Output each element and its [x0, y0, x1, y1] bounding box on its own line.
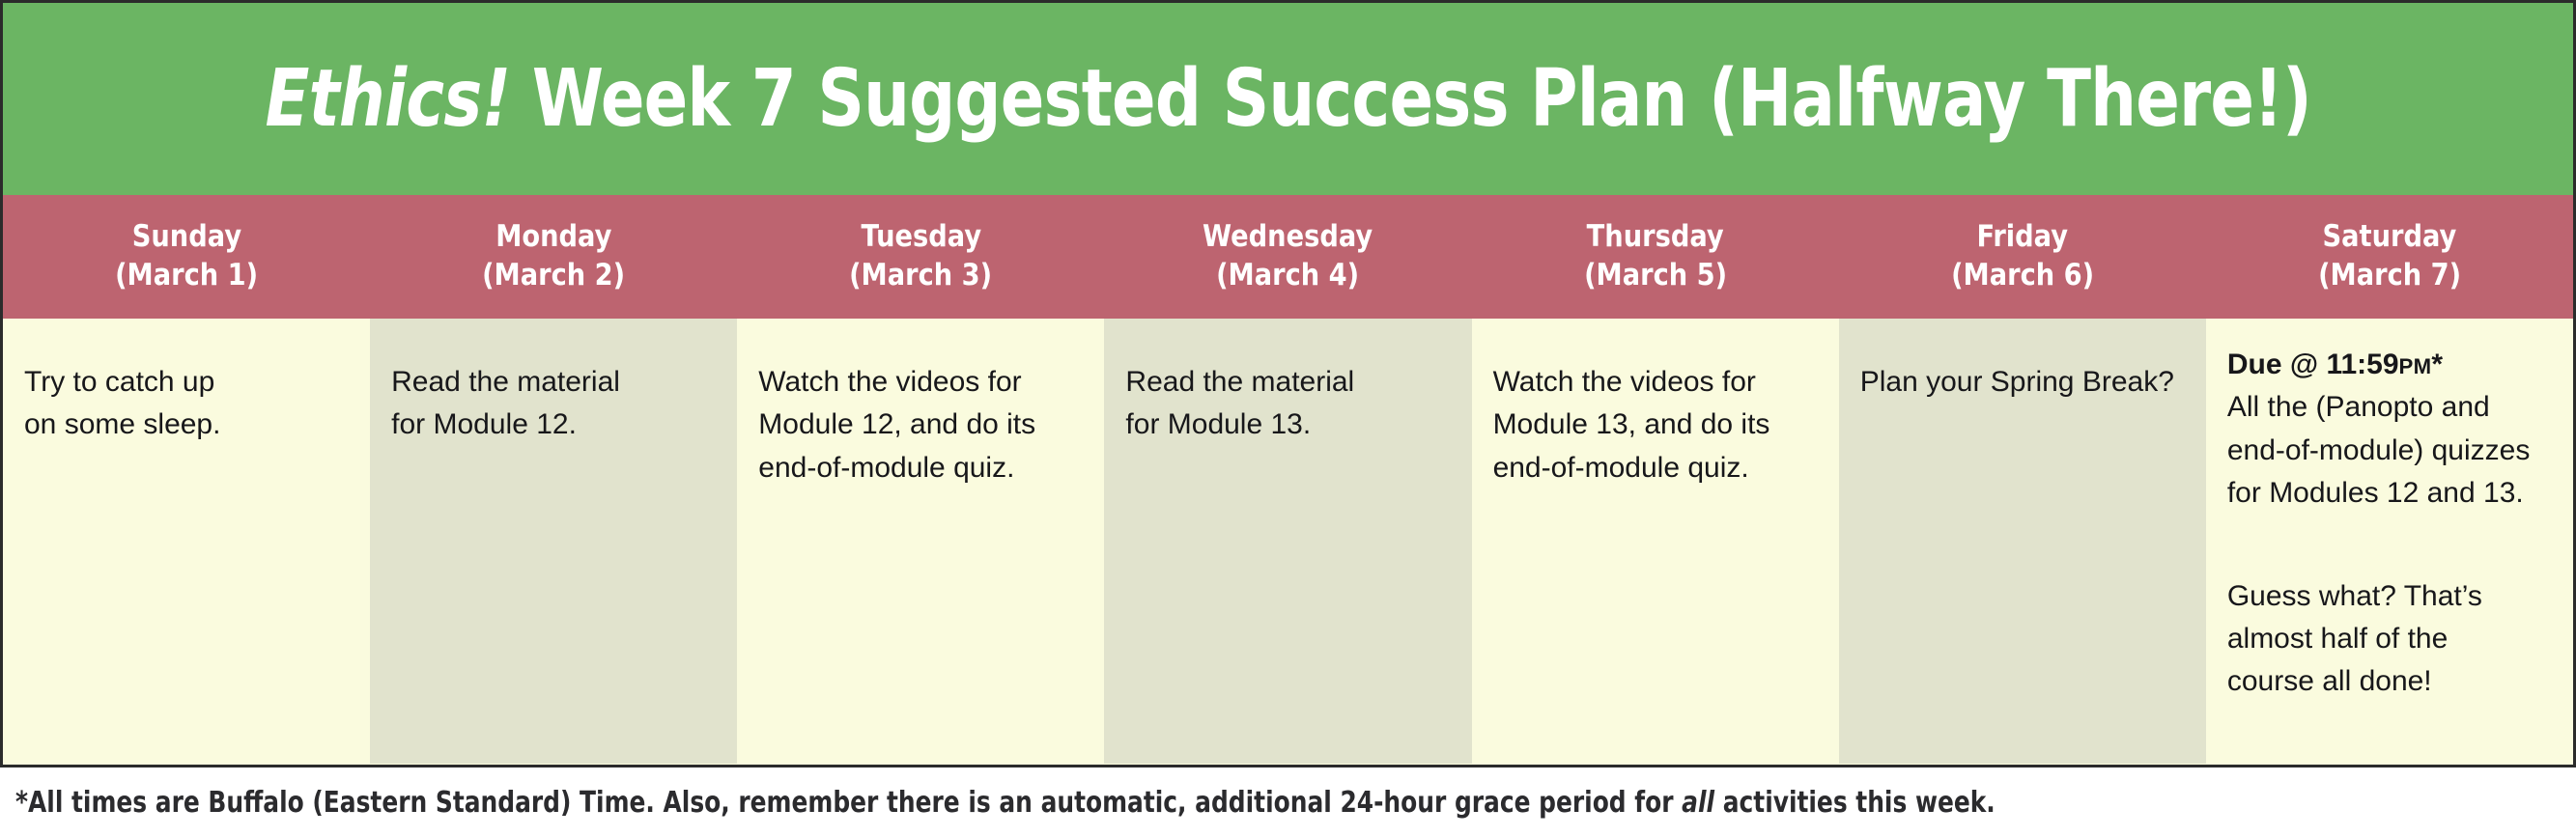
day-name: Thursday [1587, 218, 1724, 257]
task-cell-monday: Read the material for Module 12. [370, 319, 737, 764]
day-name: Wednesday [1203, 218, 1373, 257]
task-text: Watch the videos for Module 13, and do i… [1493, 344, 1818, 489]
task-line: Try to catch up [24, 361, 349, 404]
task-line: end-of-module) quizzes [2227, 430, 2552, 472]
day-date: (March 3) [849, 257, 992, 295]
day-header-thursday: Thursday (March 5) [1472, 195, 1839, 319]
due-label-ampm: PM [2399, 354, 2432, 378]
day-name: Friday [1976, 218, 2068, 257]
task-cell-tuesday: Watch the videos for Module 12, and do i… [737, 319, 1104, 764]
day-name: Saturday [2322, 218, 2456, 257]
day-name: Tuesday [861, 218, 981, 257]
day-date: (March 5) [1584, 257, 1727, 295]
due-label-footnote-marker: * [2431, 349, 2443, 380]
page-title: Ethics! Week 7 Suggested Success Plan (H… [265, 60, 2310, 139]
week-plan-sheet: Ethics! Week 7 Suggested Success Plan (H… [0, 0, 2576, 837]
task-cell-sunday: Try to catch up on some sleep. [3, 319, 370, 764]
due-label: Due @ 11:59PM* [2227, 344, 2552, 386]
task-line: Guess what? That’s [2227, 575, 2552, 618]
day-name: Monday [495, 218, 611, 257]
task-text: Watch the videos for Module 12, and do i… [758, 344, 1083, 489]
task-line: Watch the videos for [758, 361, 1083, 404]
day-header-friday: Friday (March 6) [1839, 195, 2206, 319]
day-header-saturday: Saturday (March 7) [2206, 195, 2573, 319]
task-line: on some sleep. [24, 404, 349, 446]
task-text: Due @ 11:59PM* All the (Panopto and end-… [2227, 344, 2552, 704]
task-cell-saturday: Due @ 11:59PM* All the (Panopto and end-… [2206, 319, 2573, 764]
task-line: Module 13, and do its [1493, 404, 1818, 446]
task-line: for Modules 12 and 13. [2227, 472, 2552, 515]
footnote-part-1: *All times are Buffalo (Eastern Standard… [15, 786, 1682, 820]
task-cell-wednesday: Read the material for Module 13. [1104, 319, 1471, 764]
task-line: end-of-module quiz. [758, 447, 1083, 489]
day-header-tuesday: Tuesday (March 3) [737, 195, 1104, 319]
footnote-bar: *All times are Buffalo (Eastern Standard… [0, 767, 2576, 837]
day-date: (March 1) [115, 257, 258, 295]
task-line: course all done! [2227, 660, 2552, 703]
day-header-row: Sunday (March 1) Monday (March 2) Tuesda… [3, 195, 2573, 319]
page-title-emphasis: Ethics! [265, 53, 510, 145]
paragraph-gap [2227, 516, 2552, 575]
task-line: end-of-module quiz. [1493, 447, 1818, 489]
page-title-rest: Week 7 Suggested Success Plan (Halfway T… [532, 53, 2311, 145]
footnote-text: *All times are Buffalo (Eastern Standard… [15, 786, 1996, 820]
day-date: (March 2) [482, 257, 625, 295]
footnote-part-2: activities this week. [1714, 786, 1996, 820]
task-cell-friday: Plan your Spring Break? [1839, 319, 2206, 764]
day-date: (March 6) [1951, 257, 2094, 295]
day-header-monday: Monday (March 2) [370, 195, 737, 319]
task-line: Read the material [1125, 361, 1450, 404]
task-line: Read the material [391, 361, 716, 404]
day-header-wednesday: Wednesday (March 4) [1104, 195, 1471, 319]
task-line: Plan your Spring Break? [1860, 361, 2185, 404]
task-text: Try to catch up on some sleep. [24, 344, 349, 447]
footnote-emphasis: all [1682, 786, 1714, 820]
task-line: Watch the videos for [1493, 361, 1818, 404]
task-text: Read the material for Module 12. [391, 344, 716, 447]
task-line: for Module 12. [391, 404, 716, 446]
day-name: Sunday [131, 218, 241, 257]
day-date: (March 7) [2318, 257, 2461, 295]
task-row: Try to catch up on some sleep. Read the … [3, 319, 2573, 764]
task-line: Module 12, and do its [758, 404, 1083, 446]
due-label-time: Due @ 11:59 [2227, 349, 2399, 380]
task-line: for Module 13. [1125, 404, 1450, 446]
schedule-table: Ethics! Week 7 Suggested Success Plan (H… [0, 0, 2576, 767]
task-text: Plan your Spring Break? [1860, 344, 2185, 404]
task-cell-thursday: Watch the videos for Module 13, and do i… [1472, 319, 1839, 764]
task-line: almost half of the [2227, 618, 2552, 660]
day-date: (March 4) [1216, 257, 1359, 295]
day-header-sunday: Sunday (March 1) [3, 195, 370, 319]
task-line: All the (Panopto and [2227, 386, 2552, 429]
title-banner: Ethics! Week 7 Suggested Success Plan (H… [3, 3, 2573, 195]
task-text: Read the material for Module 13. [1125, 344, 1450, 447]
